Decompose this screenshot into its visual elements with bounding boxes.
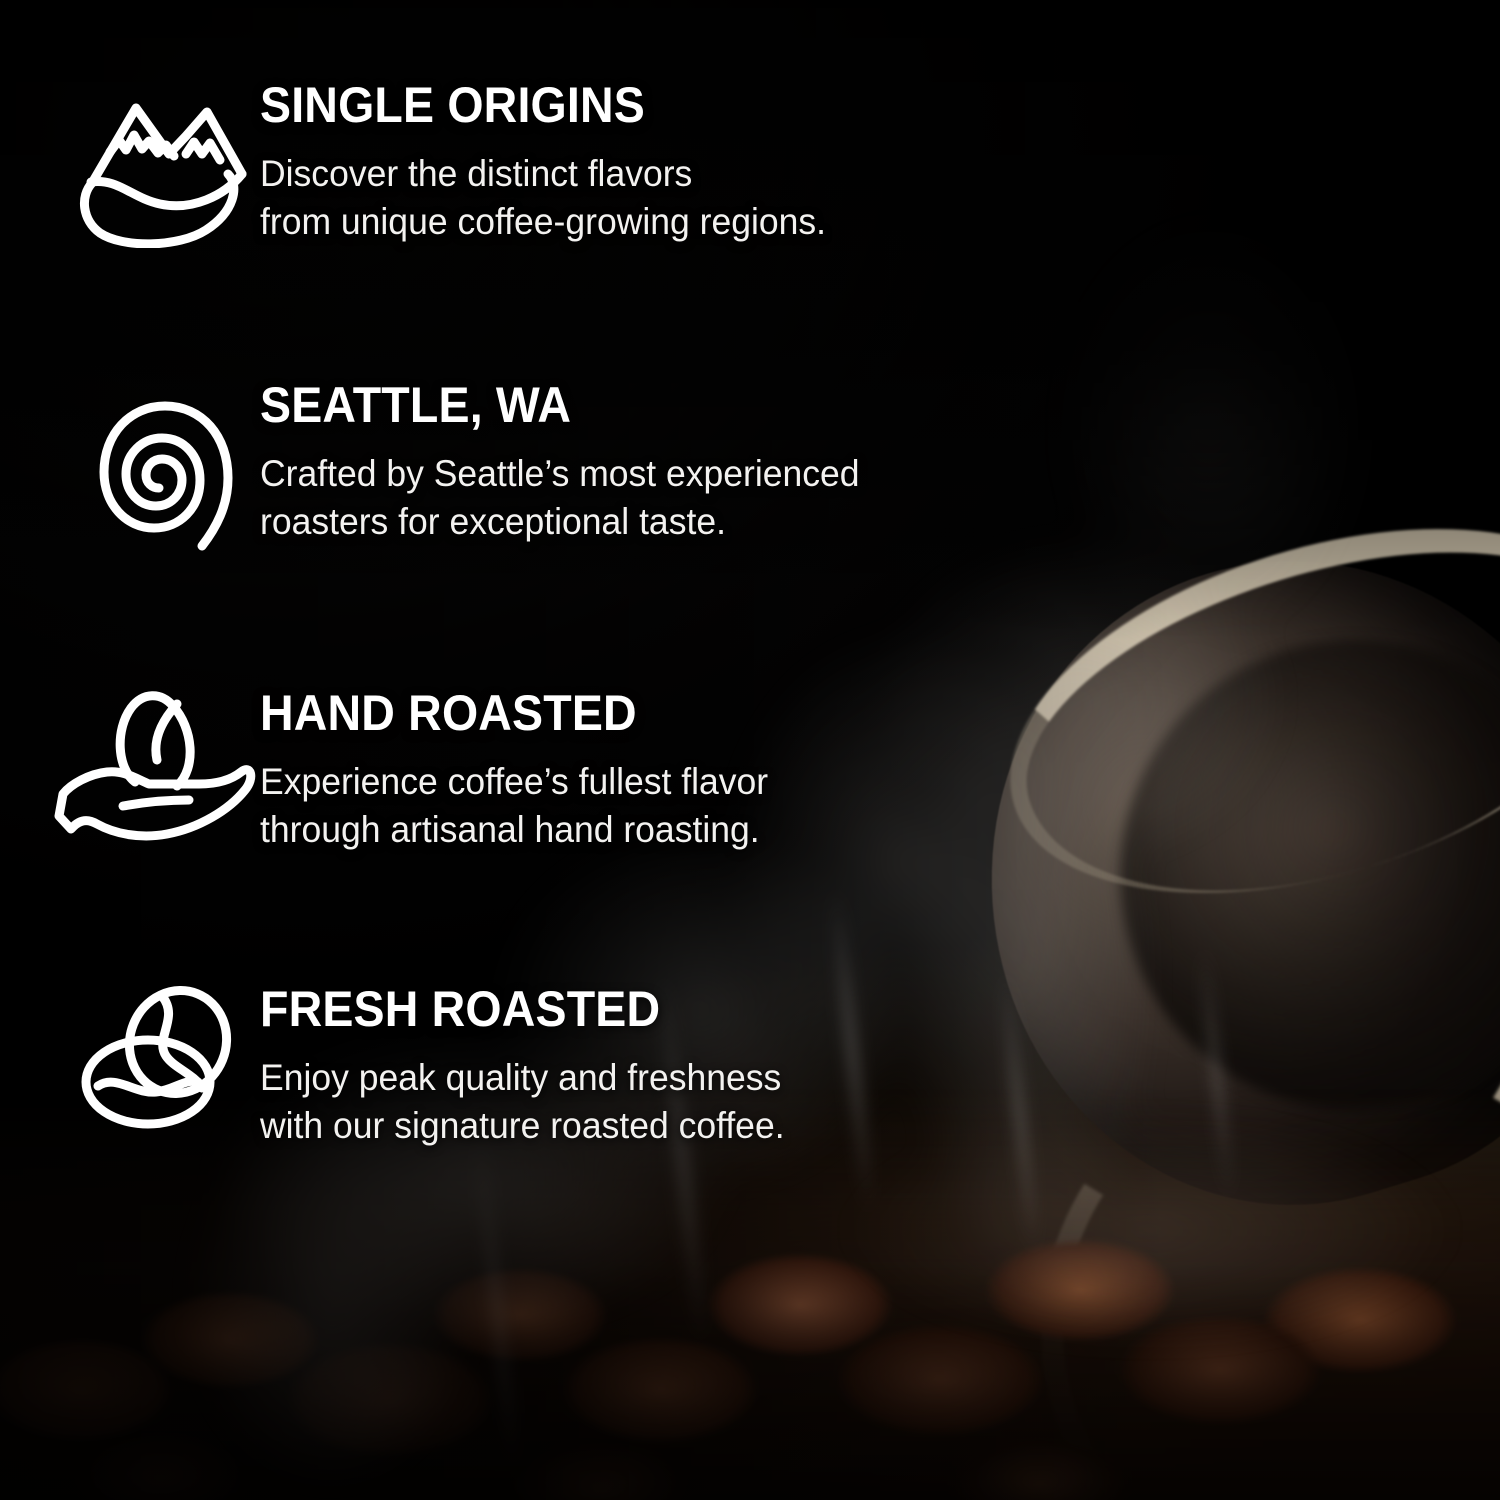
feature-text-block: SINGLE ORIGINS Discover the distinct fla… xyxy=(260,78,850,246)
feature-description: Experience coffee’s fullest flavor throu… xyxy=(260,758,768,854)
feature-text-block: HAND ROASTED Experience coffee’s fullest… xyxy=(260,686,789,854)
feature-item-seattle-wa: SEATTLE, WA Crafted by Seattle’s most ex… xyxy=(70,378,885,558)
feature-description-line: Crafted by Seattle’s most experienced xyxy=(260,450,860,498)
feature-description-line: from unique coffee-growing regions. xyxy=(260,198,826,246)
feature-title: HAND ROASTED xyxy=(260,688,752,738)
feature-title: SEATTLE, WA xyxy=(260,380,841,430)
bean-pile-shadow xyxy=(0,1260,1500,1500)
feature-item-fresh-roasted: FRESH ROASTED Enjoy peak quality and fre… xyxy=(70,982,806,1150)
fingerprint-icon xyxy=(70,378,260,558)
feature-description-line: with our signature roasted coffee. xyxy=(260,1102,785,1150)
feature-description-line: through artisanal hand roasting. xyxy=(260,806,768,854)
feature-item-hand-roasted: HAND ROASTED Experience coffee’s fullest… xyxy=(48,686,789,854)
mountain-bean-icon xyxy=(70,78,260,248)
feature-text-block: FRESH ROASTED Enjoy peak quality and fre… xyxy=(260,982,806,1150)
hand-holding-bean-icon xyxy=(48,686,260,846)
feature-description: Crafted by Seattle’s most experienced ro… xyxy=(260,450,860,546)
feature-description-line: Experience coffee’s fullest flavor xyxy=(260,758,768,806)
feature-description: Enjoy peak quality and freshness with ou… xyxy=(260,1054,785,1150)
feature-description-line: Discover the distinct flavors xyxy=(260,150,826,198)
two-coffee-beans-icon xyxy=(70,982,260,1130)
feature-title: FRESH ROASTED xyxy=(260,984,768,1034)
feature-description-line: roasters for exceptional taste. xyxy=(260,498,860,546)
feature-item-single-origins: SINGLE ORIGINS Discover the distinct fla… xyxy=(70,78,850,248)
coffee-feature-banner: SINGLE ORIGINS Discover the distinct fla… xyxy=(0,0,1500,1500)
feature-description-line: Enjoy peak quality and freshness xyxy=(260,1054,785,1102)
feature-title: SINGLE ORIGINS xyxy=(260,80,808,130)
feature-description: Discover the distinct flavors from uniqu… xyxy=(260,150,826,246)
feature-text-block: SEATTLE, WA Crafted by Seattle’s most ex… xyxy=(260,378,885,546)
